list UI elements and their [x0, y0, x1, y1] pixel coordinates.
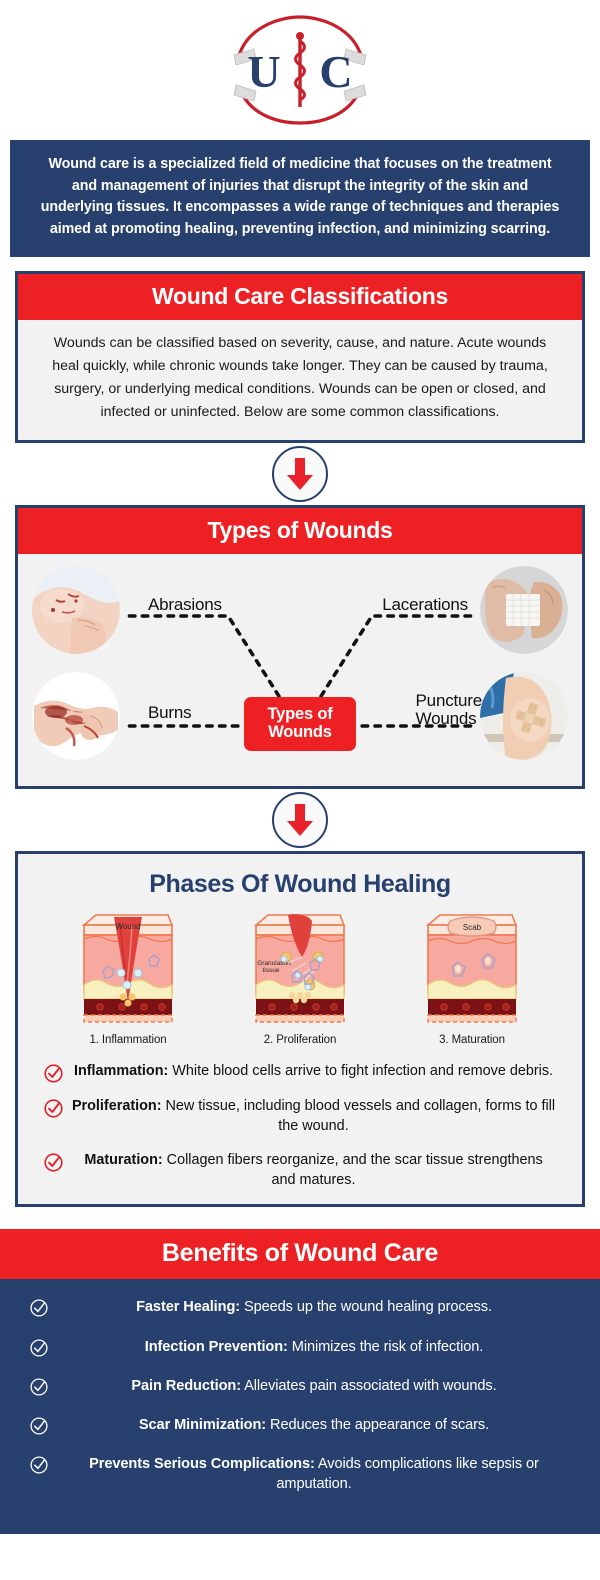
phases-title: Phases Of Wound Healing — [18, 870, 582, 899]
benefit-text: Faster Healing: Speeds up the wound heal… — [58, 1297, 570, 1317]
benefit-desc: Alleviates pain associated with wounds. — [241, 1378, 497, 1394]
benefit-desc: Speeds up the wound healing process. — [240, 1299, 492, 1315]
abrasion-elbow-photo — [32, 566, 120, 654]
benefit-term: Faster Healing: — [136, 1299, 240, 1315]
types-label-lacerations: Lacerations — [382, 596, 468, 614]
phase-diagram-row: Wound 1. Inflammation Granul — [18, 909, 582, 1046]
check-circle-red-icon — [44, 1064, 63, 1083]
list-item: Infection Prevention: Minimizes the risk… — [30, 1337, 570, 1357]
types-title: Types of Wounds — [18, 508, 582, 554]
list-item: Pain Reduction: Alleviates pain associat… — [30, 1376, 570, 1396]
arrow-circle — [272, 792, 328, 848]
types-center-node: Types of Wounds — [244, 697, 356, 751]
intro-banner: Wound care is a specialized field of med… — [10, 140, 590, 257]
phase-annotation-granulation-2: tissue — [263, 967, 280, 974]
classifications-body: Wounds can be classified based on severi… — [18, 320, 582, 440]
phases-card: Phases Of Wound Healing Wound — [15, 851, 585, 1208]
types-label-puncture-line2: Wounds — [416, 710, 482, 728]
check-circle-red-icon — [44, 1153, 63, 1172]
benefit-desc: Reduces the appearance of scars. — [266, 1417, 489, 1433]
types-label-puncture-line1: Puncture — [416, 692, 482, 710]
list-item: Proliferation: New tissue, including blo… — [44, 1097, 556, 1137]
rod-of-asclepius-icon: U C — [220, 15, 380, 125]
benefit-term: Scar Minimization: — [139, 1417, 266, 1433]
bandaged-knee-photo — [480, 672, 568, 760]
bandaged-hand-photo — [480, 566, 568, 654]
skin-cross-section-maturation-icon: Scab — [420, 909, 524, 1027]
phase-item-term: Proliferation: — [72, 1098, 162, 1114]
phase-item-text: Inflammation: White blood cells arrive t… — [71, 1062, 556, 1082]
benefit-term: Prevents Serious Complications: — [89, 1456, 315, 1472]
laceration-photo — [480, 566, 568, 654]
benefit-text: Infection Prevention: Minimizes the risk… — [58, 1337, 570, 1357]
spacer — [0, 257, 600, 271]
types-diagram: Abrasions Lacerations Burns Puncture Wou… — [18, 554, 582, 786]
logo-header: U C BLOOMFIELD & PLYMOUTH URGENT MEDICAL… — [0, 0, 600, 140]
svg-text:C: C — [319, 46, 352, 97]
skin-cross-section-proliferation-icon: Granulation tissue — [248, 909, 352, 1027]
down-arrow-icon — [285, 457, 315, 491]
skin-cross-section-inflammation-icon: Wound — [76, 909, 180, 1027]
check-circle-red-icon — [44, 1099, 63, 1118]
benefit-term: Pain Reduction: — [131, 1378, 241, 1394]
check-circle-white-icon — [30, 1299, 48, 1317]
phase-item-term: Inflammation: — [74, 1063, 168, 1079]
phase-item-text: Proliferation: New tissue, including blo… — [71, 1097, 556, 1137]
types-label-abrasions: Abrasions — [148, 596, 222, 614]
list-item: Inflammation: White blood cells arrive t… — [44, 1062, 556, 1083]
phase-item-desc: Collagen fibers reorganize, and the scar… — [163, 1152, 543, 1188]
connector-arrow-2 — [0, 789, 600, 851]
phase-annotation-scab: Scab — [463, 923, 482, 932]
types-label-burns: Burns — [148, 704, 191, 722]
check-circle-white-icon — [30, 1456, 48, 1474]
benefit-desc: Minimizes the risk of infection. — [288, 1339, 483, 1355]
puncture-photo — [480, 672, 568, 760]
connector-arrow-1 — [0, 443, 600, 505]
benefits-title: Benefits of Wound Care — [0, 1229, 600, 1279]
phase-diagram-maturation: Scab 3. Maturation — [397, 909, 547, 1046]
types-center-line2: Wounds — [256, 723, 344, 741]
phase-item-desc: New tissue, including blood vessels and … — [162, 1098, 556, 1134]
classifications-text: Wounds can be classified based on severi… — [40, 332, 560, 424]
check-circle-white-icon — [30, 1417, 48, 1435]
arrow-circle — [272, 446, 328, 502]
phase-caption-3: 3. Maturation — [397, 1034, 547, 1046]
phase-item-desc: White blood cells arrive to fight infect… — [168, 1063, 553, 1079]
phase-item-text: Maturation: Collagen fibers reorganize, … — [71, 1151, 556, 1191]
types-center-line1: Types of — [256, 705, 344, 723]
benefit-text: Pain Reduction: Alleviates pain associat… — [58, 1376, 570, 1396]
phase-annotation-wound: Wound — [115, 922, 140, 931]
phases-bullet-list: Inflammation: White blood cells arrive t… — [18, 1046, 582, 1191]
clinic-logo: U C BLOOMFIELD & PLYMOUTH URGENT MEDICAL… — [220, 15, 380, 125]
phase-item-term: Maturation: — [84, 1152, 162, 1168]
types-card: Types of Wounds — [15, 505, 585, 789]
phase-diagram-inflammation: Wound 1. Inflammation — [53, 909, 203, 1046]
phase-caption-2: 2. Proliferation — [225, 1034, 375, 1046]
phase-caption-1: 1. Inflammation — [53, 1034, 203, 1046]
phase-diagram-proliferation: Granulation tissue 2. Proliferat — [225, 909, 375, 1046]
check-circle-white-icon — [30, 1339, 48, 1357]
burned-hand-photo — [32, 672, 120, 760]
classifications-title: Wound Care Classifications — [18, 274, 582, 320]
benefit-text: Prevents Serious Complications: Avoids c… — [58, 1454, 570, 1494]
down-arrow-icon — [285, 803, 315, 837]
list-item: Maturation: Collagen fibers reorganize, … — [44, 1151, 556, 1191]
check-circle-white-icon — [30, 1378, 48, 1396]
benefit-desc: Avoids complications like sepsis or ampu… — [276, 1456, 538, 1492]
benefit-text: Scar Minimization: Reduces the appearanc… — [58, 1415, 570, 1435]
list-item: Faster Healing: Speeds up the wound heal… — [30, 1297, 570, 1317]
classifications-card: Wound Care Classifications Wounds can be… — [15, 271, 585, 443]
list-item: Prevents Serious Complications: Avoids c… — [30, 1454, 570, 1494]
benefits-list: Faster Healing: Speeds up the wound heal… — [0, 1279, 600, 1534]
svg-text:U: U — [247, 46, 280, 97]
benefit-term: Infection Prevention: — [145, 1339, 288, 1355]
types-label-puncture-wounds: Puncture Wounds — [416, 692, 482, 728]
abrasion-photo — [32, 566, 120, 654]
burn-photo — [32, 672, 120, 760]
list-item: Scar Minimization: Reduces the appearanc… — [30, 1415, 570, 1435]
